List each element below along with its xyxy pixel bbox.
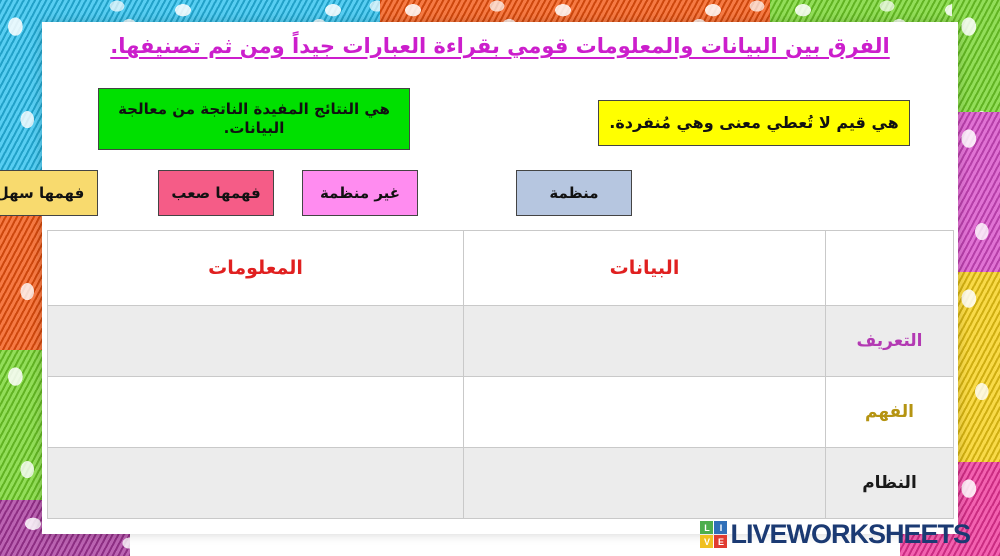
border-right-magenta [952,112,1000,272]
cell-organization-data[interactable] [464,448,826,519]
cell-organization-information[interactable] [48,448,464,519]
worksheet-page: الفرق بين البيانات والمعلومات قومي بقراء… [0,0,1000,556]
logo-tile-l: L [700,521,713,534]
cell-definition-data[interactable] [464,306,826,377]
table-header-row: البيانات المعلومات [48,231,954,306]
table-row: التعريف [48,306,954,377]
border-left-green [0,350,44,500]
row-label-organization: النظام [826,448,954,519]
row-label-understanding: الفهم [826,377,954,448]
border-right-green [952,0,1000,112]
table-row: الفهم [48,377,954,448]
cell-understanding-data[interactable] [464,377,826,448]
attribute-box-easy-to-understand[interactable]: فهمها سهل [0,170,98,216]
row-label-definition: التعريف [826,306,954,377]
cell-definition-information[interactable] [48,306,464,377]
logo-tile-i: I [714,521,727,534]
attribute-box-unorganized[interactable]: غير منظمة [302,170,418,216]
logo-tile-e: E [714,535,727,548]
cell-understanding-information[interactable] [48,377,464,448]
border-left-cyan [0,0,44,172]
table-row: النظام [48,448,954,519]
table-header-information: المعلومات [48,231,464,306]
table-header-corner [826,231,954,306]
logo-tile-v: V [700,535,713,548]
worksheet-content: الفرق بين البيانات والمعلومات قومي بقراء… [42,22,958,534]
logo-tiles-icon: L I V E [700,521,727,548]
attribute-box-hard-to-understand[interactable]: فهمها صعب [158,170,274,216]
definition-box-data[interactable]: هي قيم لا تُعطي معنى وهي مُنفردة. [598,100,910,146]
page-title: الفرق بين البيانات والمعلومات قومي بقراء… [42,34,958,58]
attribute-box-organized[interactable]: منظمة [516,170,632,216]
table-header-data: البيانات [464,231,826,306]
logo-wordmark: LIVEWORKSHEETS [730,519,970,550]
border-right-yellow [952,272,1000,462]
definition-box-information[interactable]: هي النتائج المفيدة الناتجة من معالجة الب… [98,88,410,150]
comparison-table: البيانات المعلومات التعريف الفهم النظام [47,230,954,519]
liveworksheets-logo: L I V E LIVEWORKSHEETS [700,519,970,550]
